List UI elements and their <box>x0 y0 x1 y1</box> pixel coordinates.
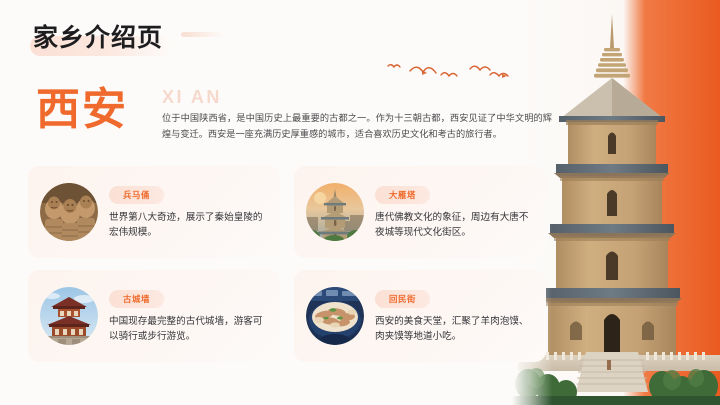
card-body: 回民街 西安的美食天堂，汇聚了羊肉泡馍、肉夹馍等地道小吃。 <box>375 289 534 344</box>
highlight-cards-grid: 兵马俑 世界第八大奇迹，展示了秦始皇陵的宏伟规模。 <box>28 166 546 362</box>
card-badge: 大雁塔 <box>375 186 430 204</box>
page-title-block: 家乡介绍页 <box>33 20 163 56</box>
page-title: 家乡介绍页 <box>33 20 163 56</box>
hero-city-name-en: XI AN <box>162 86 222 108</box>
card-terracotta-warriors[interactable]: 兵马俑 世界第八大奇迹，展示了秦始皇陵的宏伟规模。 <box>28 166 280 258</box>
big-wild-goose-pagoda-photo <box>306 183 364 241</box>
card-badge: 古城墙 <box>109 290 164 308</box>
card-ancient-city-wall[interactable]: 古城墙 中国现存最完整的古代城墙，游客可以骑行或步行游览。 <box>28 270 280 362</box>
card-body: 大雁塔 唐代佛教文化的象征，周边有大唐不夜城等现代文化街区。 <box>375 185 534 240</box>
card-description: 世界第八大奇迹，展示了秦始皇陵的宏伟规模。 <box>109 210 268 240</box>
card-description: 中国现存最完整的古代城墙，游客可以骑行或步行游览。 <box>109 314 268 344</box>
card-body: 兵马俑 世界第八大奇迹，展示了秦始皇陵的宏伟规模。 <box>109 185 268 240</box>
ancient-city-wall-photo <box>40 287 98 345</box>
title-dash-decor <box>181 32 225 37</box>
card-big-wild-goose-pagoda[interactable]: 大雁塔 唐代佛教文化的象征，周边有大唐不夜城等现代文化街区。 <box>294 166 546 258</box>
card-badge: 回民街 <box>375 290 430 308</box>
slide-root: 家乡介绍页 西安 XI AN 位于中国陕西省，是中国历史上最重要的古都之一。作为… <box>0 0 720 405</box>
card-description: 唐代佛教文化的象征，周边有大唐不夜城等现代文化街区。 <box>375 210 534 240</box>
flying-birds-icon <box>378 55 538 89</box>
card-badge: 兵马俑 <box>109 186 164 204</box>
card-description: 西安的美食天堂，汇聚了羊肉泡馍、肉夹馍等地道小吃。 <box>375 314 534 344</box>
card-body: 古城墙 中国现存最完整的古代城墙，游客可以骑行或步行游览。 <box>109 289 268 344</box>
hero-city-name-cn: 西安 <box>36 84 128 136</box>
terracotta-warriors-photo <box>40 183 98 241</box>
muslim-quarter-food-photo <box>306 287 364 345</box>
hero-description: 位于中国陕西省，是中国历史上最重要的古都之一。作为十三朝古都，西安见证了中华文明… <box>162 110 552 142</box>
card-muslim-quarter[interactable]: 回民街 西安的美食天堂，汇聚了羊肉泡馍、肉夹馍等地道小吃。 <box>294 270 546 362</box>
